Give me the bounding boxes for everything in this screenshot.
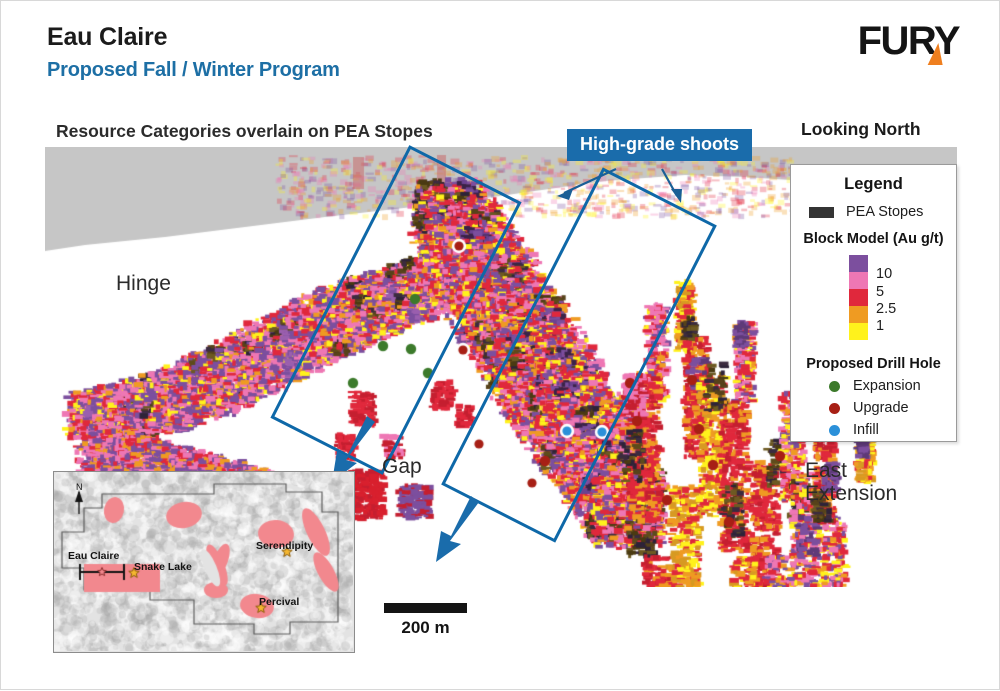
legend-row-upgrade: Upgrade: [791, 400, 956, 416]
upgrade-dot-icon: [829, 403, 840, 414]
inset-label-snake-lake: Snake Lake: [134, 561, 192, 573]
colorbar-band-purple: [849, 255, 868, 272]
inset-label-eau-claire: Eau Claire: [68, 550, 119, 562]
page-title: Eau Claire: [47, 23, 167, 52]
colorbar-tick-10: 10: [876, 266, 892, 282]
legend-panel: Legend PEA Stopes Block Model (Au g/t) 1…: [790, 164, 957, 442]
fury-logo: FURY: [858, 19, 959, 64]
scale-bar-line: [384, 603, 467, 613]
annotation-hinge: Hinge: [116, 273, 171, 296]
block-model-colorbar-group: 10 5 2.5 1: [791, 255, 956, 340]
inset-north-arrow-icon: N: [76, 482, 83, 492]
colorbar-band-orange: [849, 306, 868, 323]
infill-label: Infill: [853, 422, 879, 438]
slide-page: Eau Claire Proposed Fall / Winter Progra…: [0, 0, 1000, 690]
expansion-label: Expansion: [853, 378, 921, 394]
legend-title: Legend: [791, 175, 956, 194]
inset-label-serendipity: Serendipity: [256, 540, 313, 552]
colorbar-tick-1: 1: [876, 318, 884, 334]
view-direction-label: Looking North: [801, 119, 921, 140]
colorbar-tick-2p5: 2.5: [876, 301, 896, 317]
drill-hole-legend-title: Proposed Drill Hole: [791, 356, 956, 372]
high-grade-shoots-callout: High-grade shoots: [567, 129, 752, 161]
block-model-legend-title: Block Model (Au g/t): [791, 231, 956, 247]
colorbar-band-yellow: [849, 323, 868, 340]
fury-logo-text: FURY: [858, 19, 959, 63]
inset-north-label: N: [76, 482, 83, 492]
annotation-east-extension: EastExtension: [805, 460, 897, 505]
colorbar-band-red: [849, 289, 868, 306]
legend-row-pea-stopes: PEA Stopes: [791, 204, 956, 220]
colorbar-tick-5: 5: [876, 284, 884, 300]
infill-dot-icon: [829, 425, 840, 436]
fury-logo-wedge-icon: [927, 43, 945, 65]
section-caption: Resource Categories overlain on PEA Stop…: [56, 121, 433, 142]
pea-stopes-swatch-icon: [809, 207, 834, 218]
page-subtitle: Proposed Fall / Winter Program: [47, 59, 340, 82]
scale-bar-label: 200 m: [384, 618, 467, 638]
inset-location-map: N Eau Claire Snake Lake Serendipity Perc…: [53, 471, 355, 653]
legend-row-infill: Infill: [791, 422, 956, 438]
scale-bar: 200 m: [384, 603, 467, 638]
pea-stopes-label: PEA Stopes: [846, 204, 923, 220]
inset-label-percival: Percival: [259, 596, 299, 608]
annotation-gap: Gap: [382, 456, 422, 479]
block-model-colorbar: [849, 255, 868, 340]
colorbar-band-pink: [849, 272, 868, 289]
upgrade-label: Upgrade: [853, 400, 909, 416]
legend-row-expansion: Expansion: [791, 378, 956, 394]
expansion-dot-icon: [829, 381, 840, 392]
